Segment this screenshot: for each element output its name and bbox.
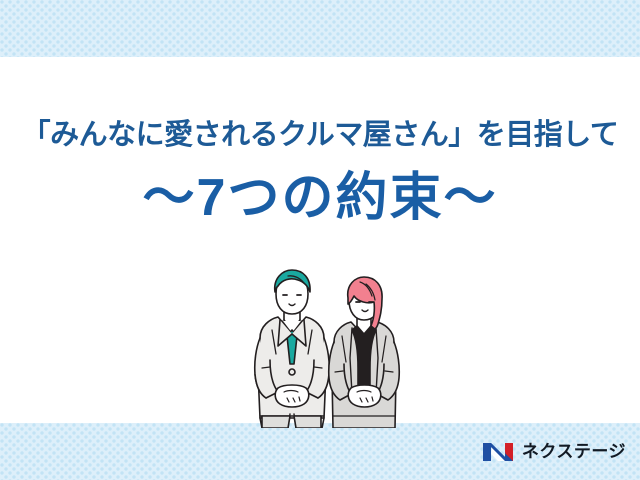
top-dot-band	[0, 0, 640, 57]
nextage-n-logo-icon	[482, 440, 515, 463]
brand-name: ネクステージ	[522, 443, 626, 460]
page-title: 「みんなに愛されるクルマ屋さん」を目指して	[0, 118, 640, 153]
headline-block: 「みんなに愛されるクルマ屋さん」を目指して 〜7つの約束〜	[0, 118, 640, 229]
slide-canvas: 「みんなに愛されるクルマ屋さん」を目指して 〜7つの約束〜	[0, 0, 640, 480]
two-bowing-staff-illustration	[232, 268, 412, 428]
male-staff-figure	[255, 270, 330, 428]
nextage-logo: ネクステージ	[482, 440, 626, 463]
page-subtitle: 〜7つの約束〜	[0, 169, 640, 229]
female-staff-figure	[329, 277, 400, 428]
